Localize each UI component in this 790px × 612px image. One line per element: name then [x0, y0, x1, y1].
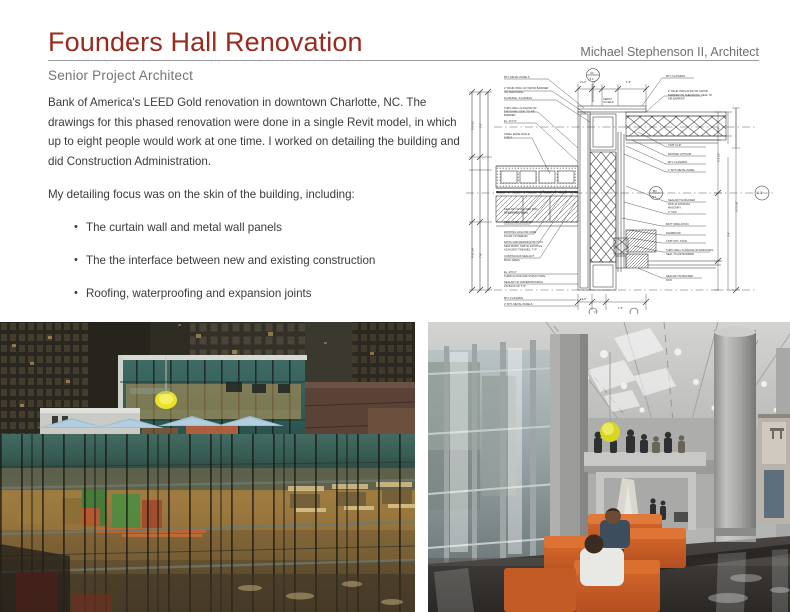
svg-text:ON SHEATHING: ON SHEATHING [504, 90, 524, 94]
svg-text:BOTH SIDES: BOTH SIDES [504, 258, 520, 262]
svg-text:3 5/8" CLIP: 3 5/8" CLIP [668, 143, 681, 147]
svg-text:SEALANT W/ BACKER: SEALANT W/ BACKER [666, 274, 693, 278]
svg-text:END DAMS, SEAL TO AIR: END DAMS, SEAL TO AIR [504, 110, 535, 114]
svg-text:1": 1" [594, 80, 596, 84]
exterior-dusk-photo [0, 322, 415, 612]
svg-text:NEW WORK, MATCH EXISTING: NEW WORK, MATCH EXISTING [504, 244, 542, 248]
list-item: • The curtain wall and metal wall panels [74, 219, 460, 236]
svg-text:PATCH AND REPAIR EXIST'G AT: PATCH AND REPAIR EXIST'G AT [504, 240, 543, 244]
svg-text:5'-4": 5'-4" [727, 232, 731, 237]
description-text-block: Bank of America's LEED Gold renovation i… [48, 93, 460, 318]
svg-text:SEAL TO AIR BARRIER: SEAL TO AIR BARRIER [666, 252, 694, 256]
bullet-icon: • [74, 285, 78, 302]
svg-text:3'-2 1/2": 3'-2 1/2" [471, 120, 475, 130]
list-item: • The the interface between new and exis… [74, 252, 460, 269]
page-title: Founders Hall Renovation [48, 26, 363, 58]
svg-text:FLASHING / FLASHING: FLASHING / FLASHING [504, 96, 532, 100]
project-description-paragraph: Bank of America's LEED Gold renovation i… [48, 93, 460, 171]
svg-text:ROD AT EXISTING: ROD AT EXISTING [668, 202, 690, 206]
svg-text:SEALANT W/ BACKER: SEALANT W/ BACKER [668, 198, 695, 202]
svg-text:2" RIGID INSULATION W/ VAPOR: 2" RIGID INSULATION W/ VAPOR [668, 89, 708, 93]
interior-lobby-photo-svg [428, 322, 790, 612]
interior-lobby-photo [428, 322, 790, 612]
svg-text:ADJACENT FINISHES, TYP: ADJACENT FINISHES, TYP [504, 248, 537, 252]
page-header: Founders Hall Renovation Michael Stephen… [48, 26, 759, 62]
svg-text:THRU-WALL FLASHING W/: THRU-WALL FLASHING W/ [504, 106, 537, 110]
svg-text:PLANK TO REMAIN: PLANK TO REMAIN [504, 234, 528, 238]
svg-text:9'-11 1/4": 9'-11 1/4" [471, 247, 475, 258]
header-divider [48, 60, 759, 61]
svg-text:2" RIGID INSUL W/ VAPOR BARRIE: 2" RIGID INSUL W/ VAPOR BARRIER [504, 86, 548, 90]
svg-text:SEALANT W/ BACKER ROD: SEALANT W/ BACKER ROD [504, 207, 538, 211]
svg-text:2'-0": 2'-0" [479, 123, 483, 128]
bullet-icon: • [74, 252, 78, 269]
svg-text:1": 1" [594, 310, 596, 314]
bullet-icon: • [74, 219, 78, 236]
wall-section-svg: 3'-2 1/2" 2'-0" 9'-11 1/4" 7'-6" A3 5.1 [466, 62, 776, 314]
svg-text:EXISTING HOLLOW CORE: EXISTING HOLLOW CORE [504, 230, 537, 234]
svg-text:BARRIER ON SHEATHING, SEAL TO: BARRIER ON SHEATHING, SEAL TO [668, 93, 712, 97]
svg-text:MT'L METAL PANELS: MT'L METAL PANELS [504, 75, 530, 79]
list-item: • Roofing, waterproofing and expansion j… [74, 285, 460, 302]
svg-text:AT EXISTING JOINT: AT EXISTING JOINT [504, 211, 529, 215]
svg-text:BARRIER: BARRIER [504, 113, 516, 117]
list-item-label: Roofing, waterproofing and expansion joi… [86, 287, 312, 300]
svg-text:SHELF: SHELF [504, 136, 513, 140]
slide-page: Founders Hall Renovation Michael Stephen… [0, 0, 790, 612]
svg-text:3" CLIP: 3" CLIP [668, 210, 677, 214]
svg-text:1'-4": 1'-4" [717, 127, 721, 132]
author-byline: Michael Stephenson II, Architect [580, 45, 759, 59]
svg-text:1'-5": 1'-5" [626, 80, 631, 84]
svg-text:THRU-WALL FLASHING W/ END DAMS: THRU-WALL FLASHING W/ END DAMS, [666, 248, 714, 252]
svg-text:1" MT'L METAL PANEL: 1" MT'L METAL PANEL [668, 168, 695, 172]
detailing-focus-list: • The curtain wall and metal wall panels… [48, 219, 460, 302]
svg-text:B3: B3 [653, 189, 657, 193]
svg-text:7'-6": 7'-6" [479, 253, 483, 258]
svg-text:12'-3 1/2": 12'-3 1/2" [735, 201, 739, 212]
svg-text:3 5/8" MT'L STUD: 3 5/8" MT'L STUD [666, 239, 687, 243]
svg-text:BATT INSULATION: BATT INSULATION [666, 222, 689, 226]
svg-text:2 1/2": 2 1/2" [580, 297, 587, 301]
svg-text:AIR BARRIER: AIR BARRIER [668, 97, 685, 101]
svg-text:STEEL EDGE ANGLE: STEEL EDGE ANGLE [504, 132, 530, 136]
svg-text:THIRD FLOOR AND STRUCTURAL: THIRD FLOOR AND STRUCTURAL [504, 274, 546, 278]
svg-text:MT'L FLASHING: MT'L FLASHING [668, 160, 687, 164]
svg-text:RECLAIMED MASONRY: RECLAIMED MASONRY [504, 220, 533, 224]
svg-text:EL. 270'-0": EL. 270'-0" [504, 270, 517, 274]
svg-text:2 1/2": 2 1/2" [580, 80, 587, 84]
svg-text:DAMPROOF: DAMPROOF [666, 231, 681, 235]
svg-text:MT'L FLASHING: MT'L FLASHING [504, 296, 523, 300]
svg-text:SEALANT AT WATERPROOFING: SEALANT AT WATERPROOFING [504, 280, 543, 284]
svg-text:IN FIELD: IN FIELD [603, 100, 614, 104]
svg-text:MT'L FLASHING: MT'L FLASHING [666, 74, 685, 78]
svg-text:PAINTED GYPSUM: PAINTED GYPSUM [668, 152, 691, 156]
svg-text:EL. 272'-8": EL. 272'-8" [504, 119, 517, 123]
svg-text:ROD: ROD [666, 278, 672, 282]
svg-text:CONTINUOUS SEALANT: CONTINUOUS SEALANT [504, 254, 534, 258]
svg-text:A.3: A.3 [757, 191, 762, 195]
svg-text:A3: A3 [590, 71, 594, 75]
wall-section-drawing: 3'-2 1/2" 2'-0" 9'-11 1/4" 7'-6" A3 5.1 [466, 62, 776, 314]
svg-text:4" MT'L METAL PANELS: 4" MT'L METAL PANELS [504, 302, 533, 306]
svg-text:1'-5": 1'-5" [618, 306, 623, 310]
detailing-focus-paragraph: My detailing focus was on the skin of th… [48, 185, 460, 205]
svg-text:3'-2 1/2": 3'-2 1/2" [717, 152, 721, 162]
list-item-label: The curtain wall and metal wall panels [86, 221, 282, 234]
role-subtitle: Senior Project Architect [48, 68, 193, 83]
photo-row [0, 322, 790, 612]
svg-text:ON BACK OF TYP: ON BACK OF TYP [504, 284, 526, 288]
svg-text:MASONRY: MASONRY [668, 206, 681, 210]
exterior-dusk-photo-svg [0, 322, 415, 612]
list-item-label: The the interface between new and existi… [86, 254, 375, 267]
